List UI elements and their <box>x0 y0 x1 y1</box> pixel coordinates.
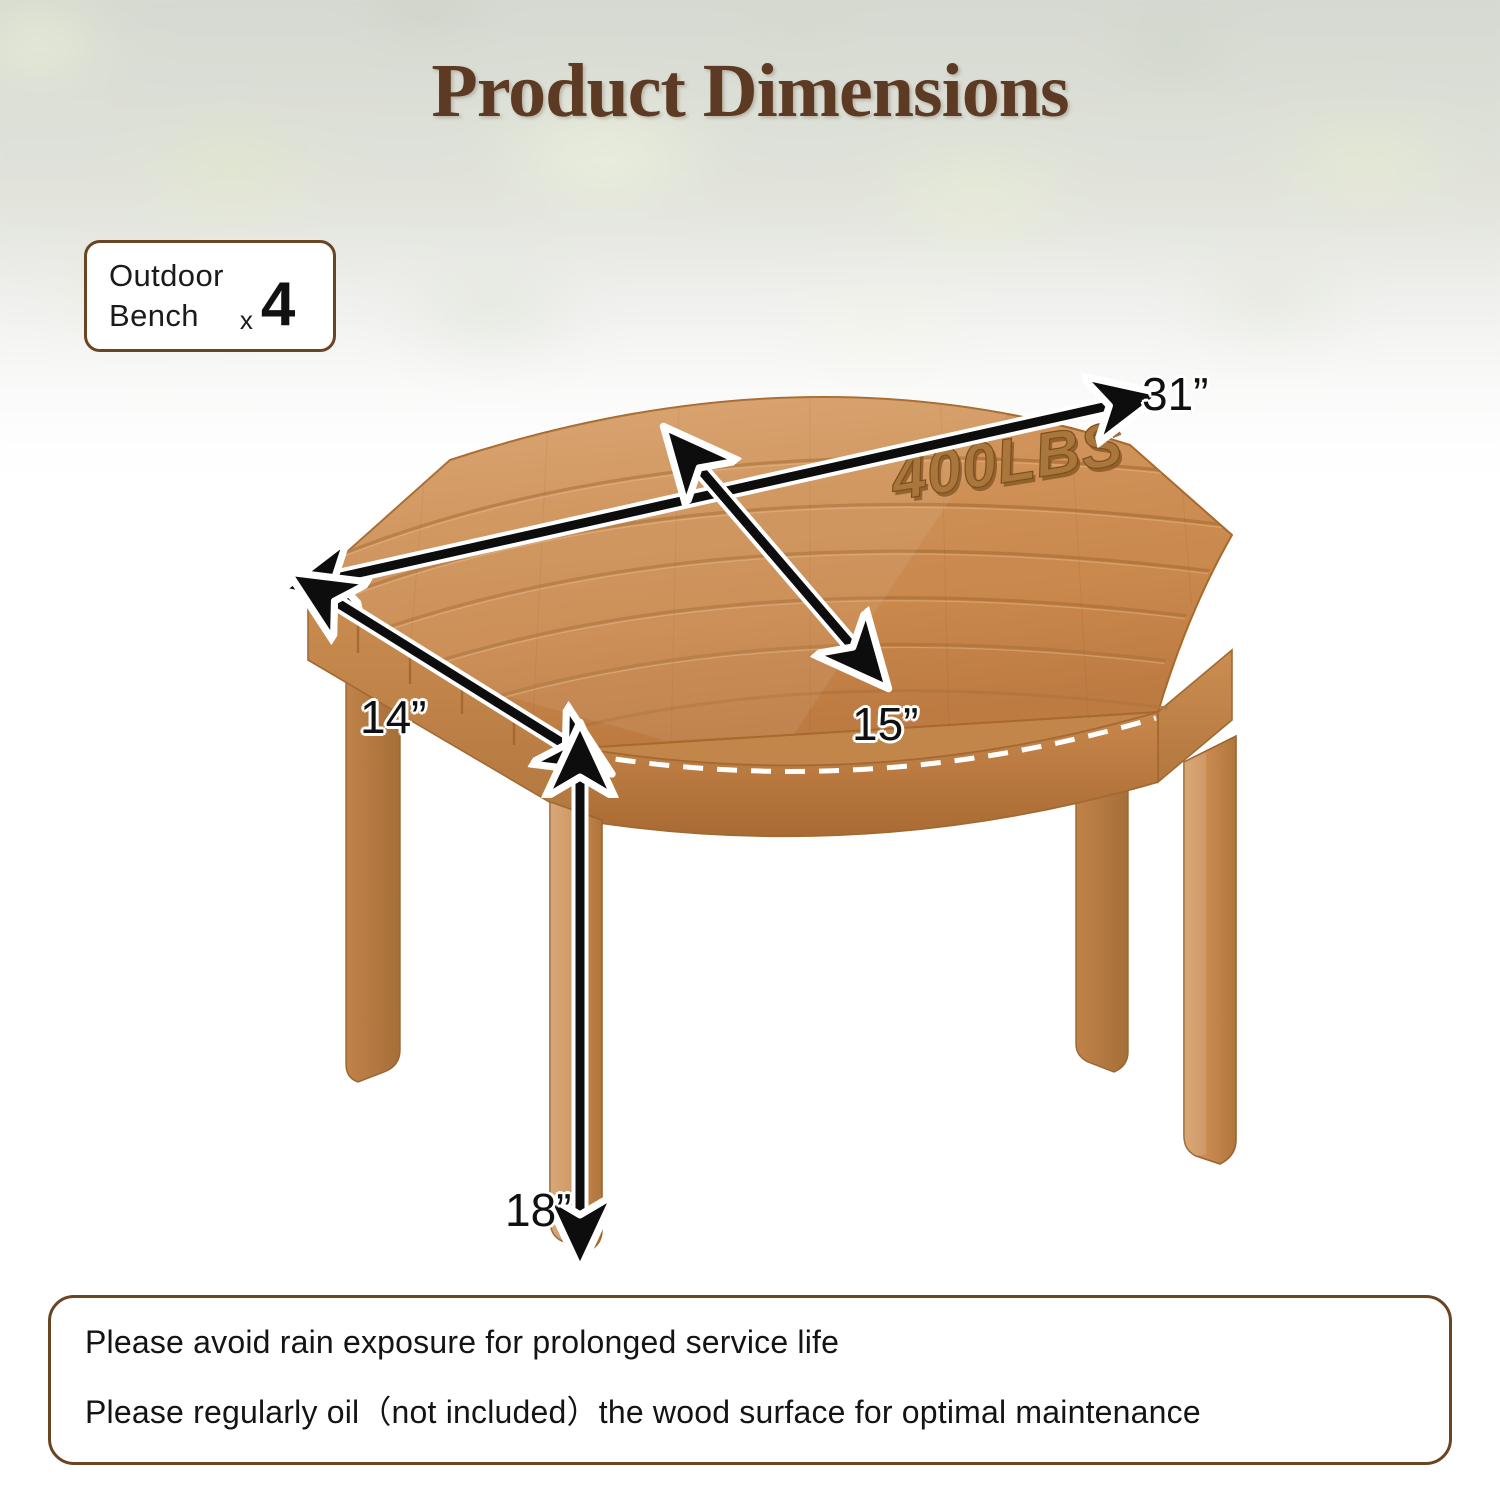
care-note-line-1: Please avoid rain exposure for prolonged… <box>85 1324 1415 1361</box>
dimension-label-seat-depth: 14” <box>360 690 426 744</box>
page-title: Product Dimensions <box>0 48 1500 135</box>
product-name-label: Outdoor Bench <box>109 256 224 337</box>
dimension-label-width: 31” <box>1142 367 1208 421</box>
care-notes-box: Please avoid rain exposure for prolonged… <box>48 1295 1452 1465</box>
care-note-line-2: Please regularly oil（not included）the wo… <box>85 1387 1415 1433</box>
quantity-badge: Outdoor Bench x 4 <box>84 240 336 352</box>
bench-leg-front-right <box>1184 736 1236 1164</box>
dimension-label-depth: 15” <box>852 697 918 751</box>
multiplier-symbol: x <box>240 305 253 336</box>
product-dimensions-infographic: Product Dimensions Outdoor Bench x 4 <box>0 0 1500 1500</box>
bench-illustration: 400LBS 400LBS <box>250 350 1330 1270</box>
dimension-label-height: 18” <box>505 1183 571 1237</box>
quantity-value: 4 <box>261 274 295 336</box>
quantity-badge-content: Outdoor Bench x 4 <box>109 256 295 337</box>
bench-svg: 400LBS 400LBS <box>250 350 1330 1270</box>
bench-leg-rear-right <box>1076 774 1128 1072</box>
